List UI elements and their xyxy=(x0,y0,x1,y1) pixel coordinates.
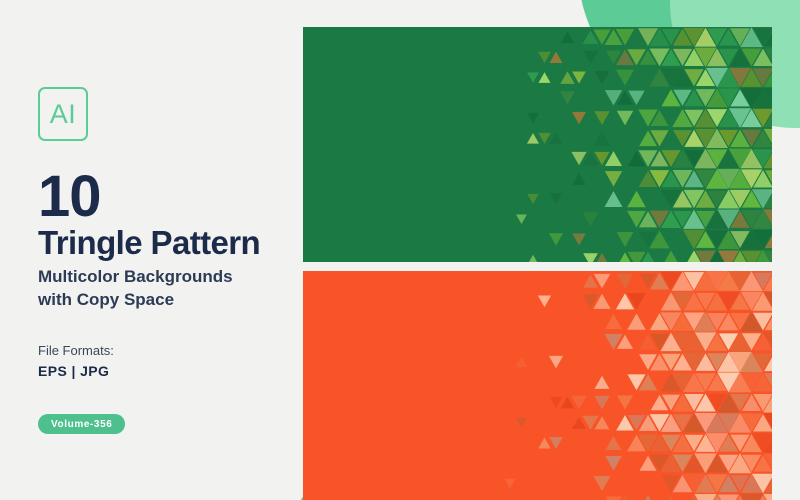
pattern-triangle xyxy=(627,191,646,207)
volume-badge: Volume-356 xyxy=(38,414,125,434)
pattern-triangle xyxy=(694,494,716,500)
pattern-triangle xyxy=(572,417,586,429)
pattern-triangle xyxy=(505,479,516,489)
orange-triangle-pattern-mosaic xyxy=(303,271,772,500)
subtitle-line-1: Multicolor Backgrounds xyxy=(38,266,288,289)
pattern-triangle xyxy=(740,494,763,500)
pattern-triangle xyxy=(593,131,610,146)
pattern-triangle xyxy=(549,437,563,449)
pattern-triangle xyxy=(550,133,562,144)
pattern-triangle xyxy=(560,91,575,104)
pattern-triangle xyxy=(538,296,551,308)
pattern-triangle xyxy=(638,495,657,500)
pattern-triangle xyxy=(538,52,551,63)
poster-canvas: AI 10 Tringle Pattern Multicolor Backgro… xyxy=(0,0,800,500)
preview-orange-triangle-pattern[interactable] xyxy=(303,271,772,500)
info-column: AI 10 Tringle Pattern Multicolor Backgro… xyxy=(38,0,298,500)
page-subtitle: Multicolor Backgrounds with Copy Space xyxy=(38,266,288,311)
pattern-triangle xyxy=(617,274,634,289)
pattern-triangle xyxy=(594,111,610,125)
pattern-triangle xyxy=(617,232,634,247)
pattern-triangle xyxy=(605,497,621,500)
pattern-triangle xyxy=(627,313,645,329)
pattern-triangle xyxy=(549,356,563,368)
green-triangle-pattern-mosaic xyxy=(303,27,772,262)
pattern-triangle xyxy=(627,252,645,262)
item-count: 10 xyxy=(38,168,101,226)
pattern-triangle xyxy=(572,234,586,246)
pattern-triangle xyxy=(582,212,598,226)
pattern-triangle xyxy=(550,397,563,408)
pattern-triangle xyxy=(617,111,634,126)
pattern-triangle xyxy=(538,72,550,83)
pattern-triangle xyxy=(571,396,586,410)
pattern-triangle xyxy=(606,436,622,450)
pattern-triangle xyxy=(662,496,681,500)
pattern-triangle xyxy=(595,376,610,389)
preview-green-triangle-pattern[interactable] xyxy=(303,27,772,262)
pattern-triangle xyxy=(516,357,528,367)
pattern-triangle xyxy=(527,133,539,144)
pattern-triangle xyxy=(583,253,598,262)
pattern-triangle xyxy=(594,71,609,84)
file-formats-value: EPS | JPG xyxy=(38,364,109,378)
pattern-triangle xyxy=(550,193,563,204)
page-title: Tringle Pattern xyxy=(38,226,260,259)
pattern-triangle xyxy=(538,438,551,449)
pattern-triangle xyxy=(516,418,527,428)
pattern-triangle xyxy=(617,395,633,409)
pattern-triangle xyxy=(605,191,623,207)
pattern-triangle xyxy=(593,476,610,491)
pattern-triangle xyxy=(527,72,539,82)
pattern-triangle xyxy=(516,215,527,225)
pattern-triangle xyxy=(616,70,634,86)
ai-badge-label: AI xyxy=(50,101,77,128)
pattern-triangle xyxy=(572,112,586,124)
pattern-triangle xyxy=(561,31,574,43)
file-formats-label: File Formats: xyxy=(38,344,114,357)
pattern-triangle xyxy=(605,171,622,186)
subtitle-line-2: with Copy Space xyxy=(38,289,288,312)
pattern-triangle xyxy=(572,173,586,185)
pattern-triangle xyxy=(718,494,739,500)
pattern-triangle xyxy=(527,113,539,123)
pattern-triangle xyxy=(605,314,622,329)
pattern-triangle xyxy=(527,255,538,262)
pattern-triangle xyxy=(605,456,622,471)
pattern-triangle xyxy=(572,72,586,84)
pattern-triangle xyxy=(594,396,609,410)
pattern-triangle xyxy=(538,133,550,144)
pattern-triangle xyxy=(549,233,563,245)
volume-badge-label: Volume-356 xyxy=(51,419,112,430)
pattern-triangle xyxy=(527,194,539,204)
pattern-triangle xyxy=(550,52,563,63)
pattern-triangle xyxy=(561,397,574,409)
pattern-triangle xyxy=(583,51,598,64)
pattern-triangle xyxy=(660,250,681,262)
adobe-illustrator-icon: AI xyxy=(38,87,88,141)
pattern-triangle xyxy=(560,71,574,84)
